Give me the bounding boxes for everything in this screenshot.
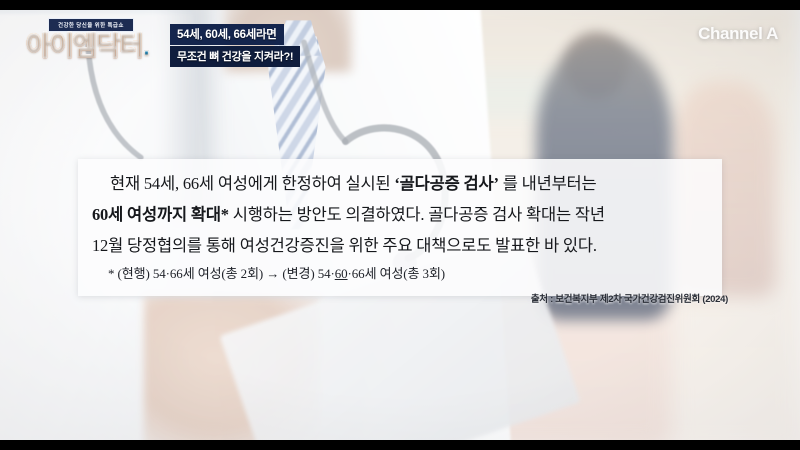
episode-title-line-1: 54세, 60세, 66세라면 bbox=[170, 24, 284, 45]
caption-line-1-highlight: ‘골다공증 검사’ bbox=[394, 174, 498, 193]
caption-line-1: 현재 54세, 66세 여성에게 한정하여 실시된 ‘골다공증 검사’ 를 내년… bbox=[92, 168, 708, 199]
caption-footnote-a: * (현행) 54·66세 여성(총 2회) → (변경) 54· bbox=[108, 266, 335, 281]
channel-watermark-text: Channel A bbox=[698, 24, 778, 43]
caption-line-2-b: 시행하는 방안도 의결하였다. 골다공증 검사 확대는 작년 bbox=[229, 205, 605, 224]
caption-line-2-highlight: 60세 여성까지 확대* bbox=[92, 205, 229, 224]
letterbox-bar-bottom bbox=[0, 440, 800, 450]
program-logo-accent: . bbox=[143, 31, 149, 61]
episode-title-banner: 54세, 60세, 66세라면 무조건 뼈 건강을 지켜라?! bbox=[170, 24, 300, 67]
broadcast-screenshot: 건강한 당신을 위한 특급쇼 아이엠닥터. 54세, 60세, 66세라면 무조… bbox=[0, 0, 800, 450]
program-logo: 아이엠닥터. bbox=[26, 33, 149, 60]
caption-footnote: * (현행) 54·66세 여성(총 2회) → (변경) 54·60·66세 … bbox=[92, 261, 708, 287]
caption-line-1-c: 를 내년부터는 bbox=[499, 174, 597, 193]
caption-line-2: 60세 여성까지 확대* 시행하는 방안도 의결하였다. 골다공증 검사 확대는… bbox=[92, 199, 708, 230]
episode-title-line-2: 무조건 뼈 건강을 지켜라?! bbox=[170, 46, 300, 67]
caption-footnote-c: ·66세 여성(총 3회) bbox=[348, 266, 446, 281]
caption-line-3: 12월 당정협의를 통해 여성건강증진을 위한 주요 대책으로도 발표한 바 있… bbox=[92, 230, 708, 261]
letterbox-bar-top bbox=[0, 0, 800, 10]
news-caption-box: 현재 54세, 66세 여성에게 한정하여 실시된 ‘골다공증 검사’ 를 내년… bbox=[78, 159, 722, 296]
program-logo-text: 아이엠닥터 bbox=[26, 31, 143, 61]
program-tagline: 건강한 당신을 위한 특급쇼 bbox=[48, 18, 134, 32]
source-credit: 출처 : 보건복지부 제2차 국가건강검진위원회 (2024) bbox=[531, 291, 728, 305]
program-branding: 건강한 당신을 위한 특급쇼 아이엠닥터. bbox=[26, 14, 149, 60]
caption-footnote-underlined: 60 bbox=[335, 266, 348, 281]
channel-watermark: Channel A bbox=[698, 24, 778, 44]
caption-line-1-a: 현재 54세, 66세 여성에게 한정하여 실시된 bbox=[110, 174, 394, 193]
